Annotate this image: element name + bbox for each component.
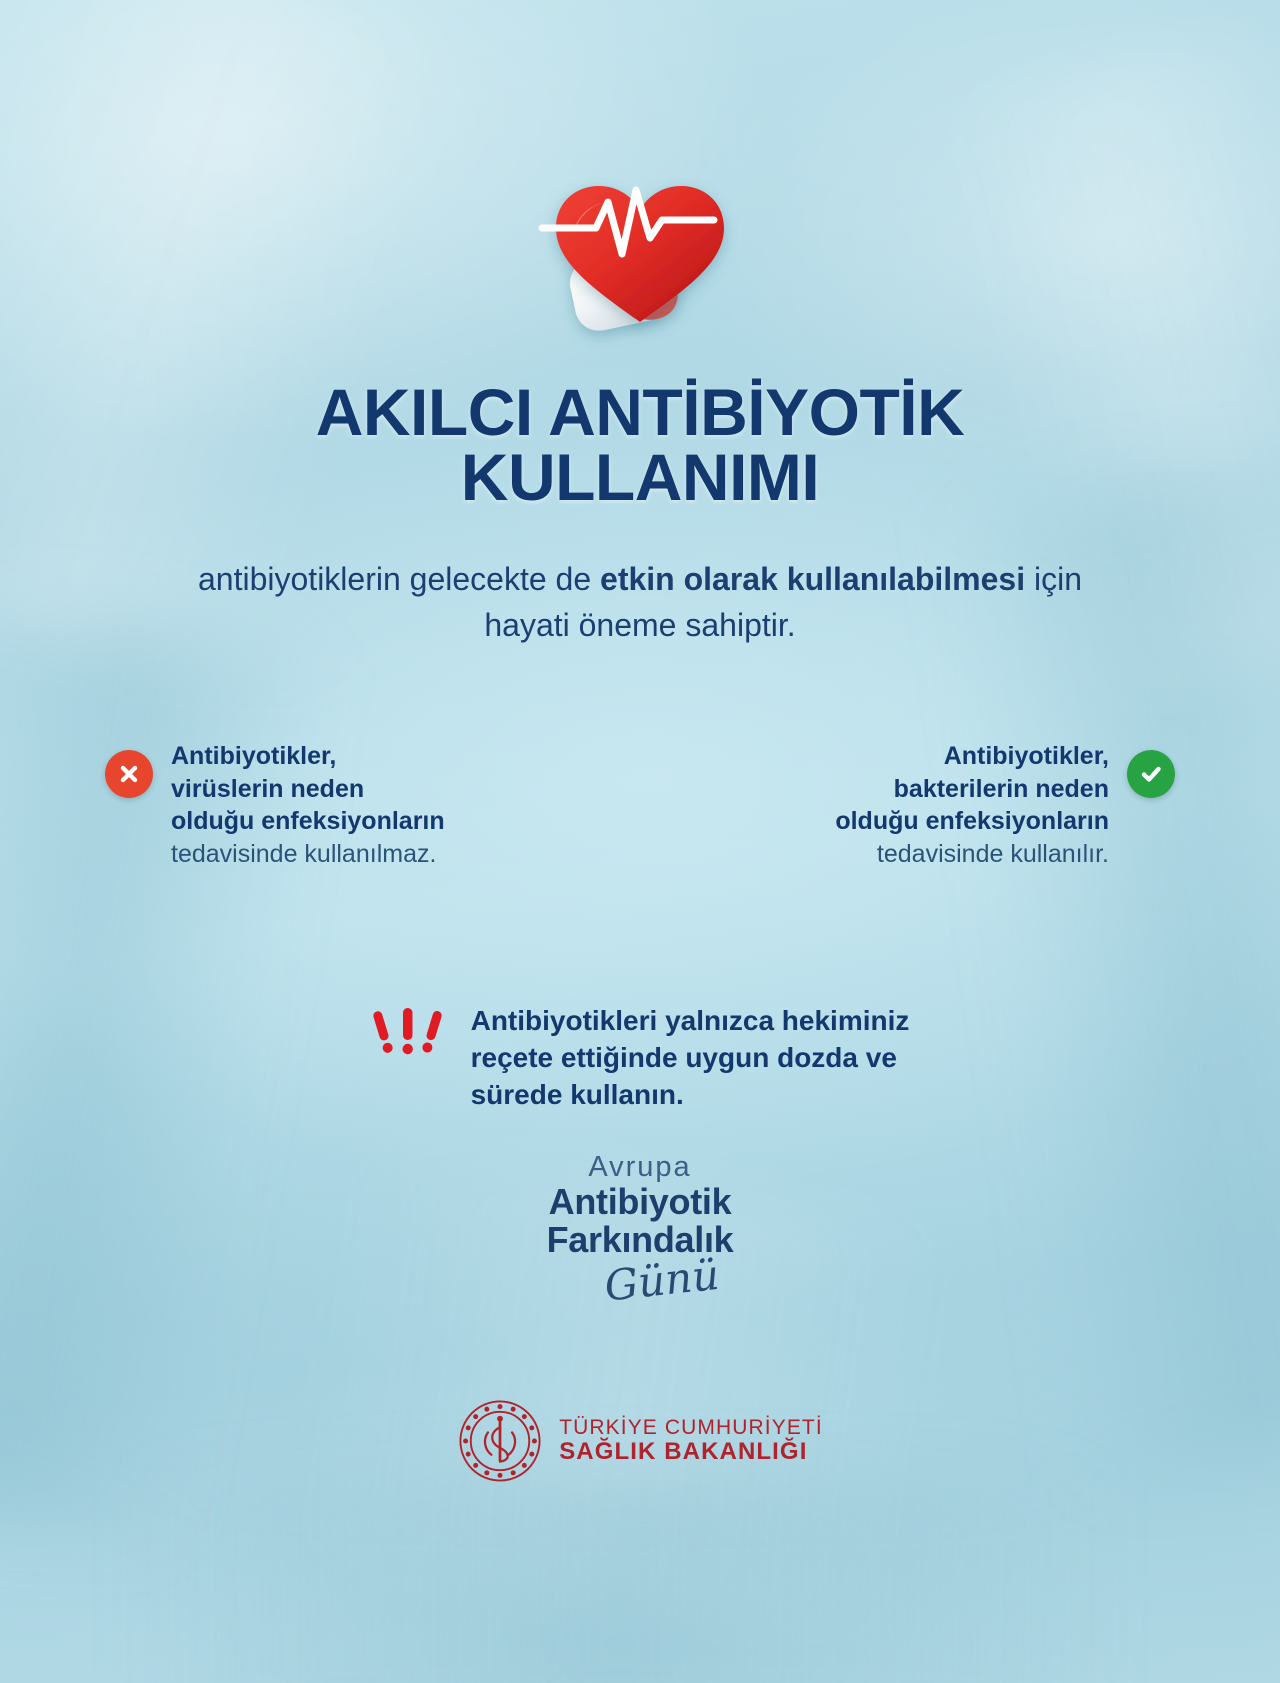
- comparison-section: Antibiyotikler, virüslerin neden olduğu …: [0, 740, 1280, 930]
- ministry-of-health-emblem: [457, 1398, 543, 1484]
- hero-illustration: [0, 150, 1280, 350]
- heart-pulse-icon: [500, 150, 780, 350]
- comparison-negative: Antibiyotikler, virüslerin neden olduğu …: [105, 740, 445, 870]
- subtitle-bold-1: etkin olarak kullanılabilmesi: [600, 561, 1025, 597]
- ministry-logo: TÜRKİYE CUMHURİYETİ SAĞLIK BAKANLIĞI: [0, 1398, 1280, 1484]
- subtitle: antibiyotiklerin gelecekte de etkin olar…: [175, 556, 1105, 649]
- comparison-positive: Antibiyotikler, bakterilerin neden olduğ…: [835, 740, 1175, 870]
- warning-line-3: sürede kullanın.: [471, 1076, 910, 1113]
- ministry-line-2: SAĞLIK BAKANLIĞI: [559, 1439, 823, 1466]
- negative-line-1: Antibiyotikler,: [171, 740, 445, 773]
- comparison-negative-text: Antibiyotikler, virüslerin neden olduğu …: [171, 740, 445, 870]
- check-mark-icon: [1127, 750, 1175, 798]
- warning-line-1: Antibiyotikleri yalnızca hekiminiz: [471, 1002, 910, 1039]
- positive-line-3: olduğu enfeksiyonların: [835, 805, 1109, 838]
- poster-content: AKILCI ANTİBİYOTİK KULLANIMI antibiyotik…: [0, 0, 1280, 1683]
- subtitle-part-1: antibiyotiklerin gelecekte de: [198, 561, 600, 597]
- eaad-avrupa: Avrupa: [0, 1152, 1280, 1183]
- ministry-line-1: TÜRKİYE CUMHURİYETİ: [559, 1416, 823, 1440]
- ministry-text: TÜRKİYE CUMHURİYETİ SAĞLIK BAKANLIĞI: [559, 1416, 823, 1466]
- page-title: AKILCI ANTİBİYOTİK KULLANIMI: [0, 380, 1280, 509]
- headline-line-2: KULLANIMI: [0, 445, 1280, 510]
- positive-soft-line: tedavisinde kullanılır.: [835, 838, 1109, 871]
- eaad-logo: Avrupa Antibiyotik Farkındalık Günü: [0, 1152, 1280, 1306]
- negative-line-3: olduğu enfeksiyonların: [171, 805, 445, 838]
- positive-line-2: bakterilerin neden: [835, 773, 1109, 806]
- negative-line-2: virüslerin neden: [171, 773, 445, 806]
- warning-line-2: reçete ettiğinde uygun dozda ve: [471, 1039, 910, 1076]
- headline-line-1: AKILCI ANTİBİYOTİK: [316, 375, 965, 449]
- x-mark-icon: [105, 750, 153, 798]
- positive-line-1: Antibiyotikler,: [835, 740, 1109, 773]
- negative-soft-line: tedavisinde kullanılmaz.: [171, 838, 445, 871]
- comparison-positive-text: Antibiyotikler, bakterilerin neden olduğ…: [835, 740, 1109, 870]
- warning-section: Antibiyotikleri yalnızca hekiminiz reçet…: [0, 1000, 1280, 1114]
- warning-text: Antibiyotikleri yalnızca hekiminiz reçet…: [471, 1000, 910, 1114]
- triple-exclamation-icon: [371, 1004, 445, 1068]
